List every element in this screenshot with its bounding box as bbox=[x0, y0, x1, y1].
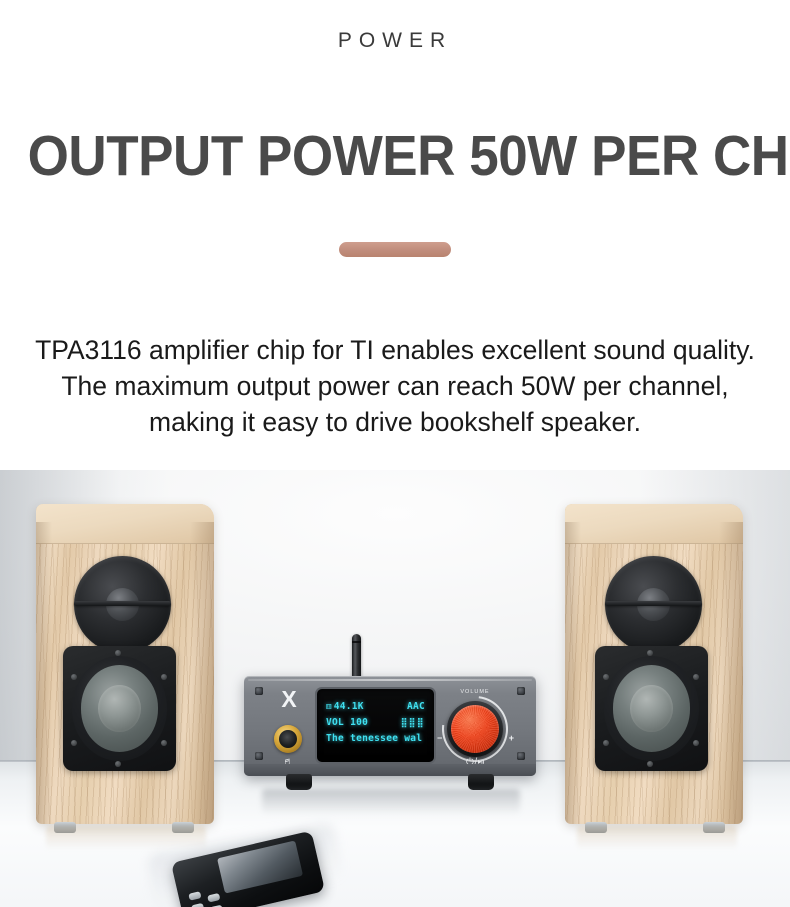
amplifier-foot bbox=[286, 774, 312, 790]
amplifier-foot bbox=[468, 774, 494, 790]
amplifier-front-panel: X ♬ ⚅44.1K AAC VOL 100 ⣿⣿⣿ The tenessee … bbox=[244, 676, 536, 776]
right-bookshelf-speaker bbox=[565, 504, 743, 824]
bluetooth-icon: ⚅ bbox=[326, 702, 332, 712]
tweeter-waveguide-bar bbox=[74, 601, 171, 606]
volume-plus-label: + bbox=[509, 734, 514, 743]
brand-logo-icon: X bbox=[276, 689, 302, 709]
lcd-sample-rate: ⚅44.1K bbox=[326, 699, 364, 715]
driver-screw bbox=[71, 674, 77, 680]
product-photo: X ♬ ⚅44.1K AAC VOL 100 ⣿⣿⣿ The tenessee … bbox=[0, 470, 790, 907]
panel-screw bbox=[517, 687, 525, 695]
woofer-driver bbox=[595, 646, 708, 771]
panel-screw bbox=[255, 687, 263, 695]
page-title: OUTPUT POWER 50W PER CHANNEL bbox=[28, 125, 763, 187]
woofer-driver bbox=[63, 646, 176, 771]
lcd-track-title: The tenessee wal bbox=[326, 731, 422, 747]
cabinet-side-right bbox=[719, 522, 743, 824]
desktop-amplifier: X ♬ ⚅44.1K AAC VOL 100 ⣿⣿⣿ The tenessee … bbox=[244, 676, 536, 788]
panel-screw bbox=[255, 752, 263, 760]
text-block: POWER OUTPUT POWER 50W PER CHANNEL TPA31… bbox=[0, 0, 790, 470]
eyebrow-label: POWER bbox=[0, 29, 790, 53]
speaker-reflection bbox=[577, 826, 737, 850]
lcd-display: ⚅44.1K AAC VOL 100 ⣿⣿⣿ The tenessee wal bbox=[317, 689, 434, 762]
driver-screw bbox=[161, 740, 167, 746]
driver-screw bbox=[161, 674, 167, 680]
cabinet-top bbox=[565, 504, 743, 544]
body-description: TPA3116 amplifier chip for TI enables ex… bbox=[24, 332, 766, 440]
driver-screw bbox=[115, 761, 121, 767]
accent-divider bbox=[339, 242, 451, 257]
left-bookshelf-speaker bbox=[36, 504, 214, 824]
cabinet-side-right bbox=[190, 522, 214, 824]
lcd-volume: VOL 100 bbox=[326, 715, 368, 731]
driver-screw bbox=[603, 740, 609, 746]
driver-screw bbox=[647, 650, 653, 656]
woofer-dust-cap bbox=[630, 685, 673, 733]
product-feature-page: POWER OUTPUT POWER 50W PER CHANNEL TPA31… bbox=[0, 0, 790, 907]
lcd-codec: AAC bbox=[407, 699, 425, 715]
lcd-row-track: The tenessee wal bbox=[326, 731, 425, 747]
bluetooth-antenna-icon bbox=[352, 634, 361, 680]
lcd-row-volume: VOL 100 ⣿⣿⣿ bbox=[326, 715, 425, 731]
volume-label: VOLUME bbox=[440, 689, 510, 695]
amplifier-reflection bbox=[262, 789, 520, 815]
woofer-dust-cap bbox=[98, 685, 141, 733]
lcd-level-meter: ⣿⣿⣿ bbox=[401, 715, 425, 731]
tweeter-waveguide-bar bbox=[605, 601, 702, 606]
speaker-reflection bbox=[46, 826, 206, 850]
cabinet-side-left bbox=[565, 522, 581, 824]
volume-minus-label: − bbox=[437, 734, 442, 743]
driver-screw bbox=[647, 761, 653, 767]
driver-screw bbox=[115, 650, 121, 656]
headphone-jack[interactable] bbox=[274, 725, 302, 753]
cabinet-top bbox=[36, 504, 214, 544]
driver-screw bbox=[693, 740, 699, 746]
volume-knob[interactable] bbox=[451, 705, 499, 753]
volume-control[interactable]: VOLUME − + bbox=[440, 690, 510, 760]
player-screen bbox=[217, 840, 303, 893]
player-button[interactable] bbox=[188, 891, 201, 901]
panel-bevel bbox=[248, 679, 532, 681]
player-button[interactable] bbox=[191, 903, 204, 907]
driver-screw bbox=[71, 740, 77, 746]
lcd-row-format: ⚅44.1K AAC bbox=[326, 699, 425, 715]
driver-screw bbox=[693, 674, 699, 680]
cabinet-side-left bbox=[36, 522, 52, 824]
driver-screw bbox=[603, 674, 609, 680]
player-button[interactable] bbox=[207, 893, 220, 903]
